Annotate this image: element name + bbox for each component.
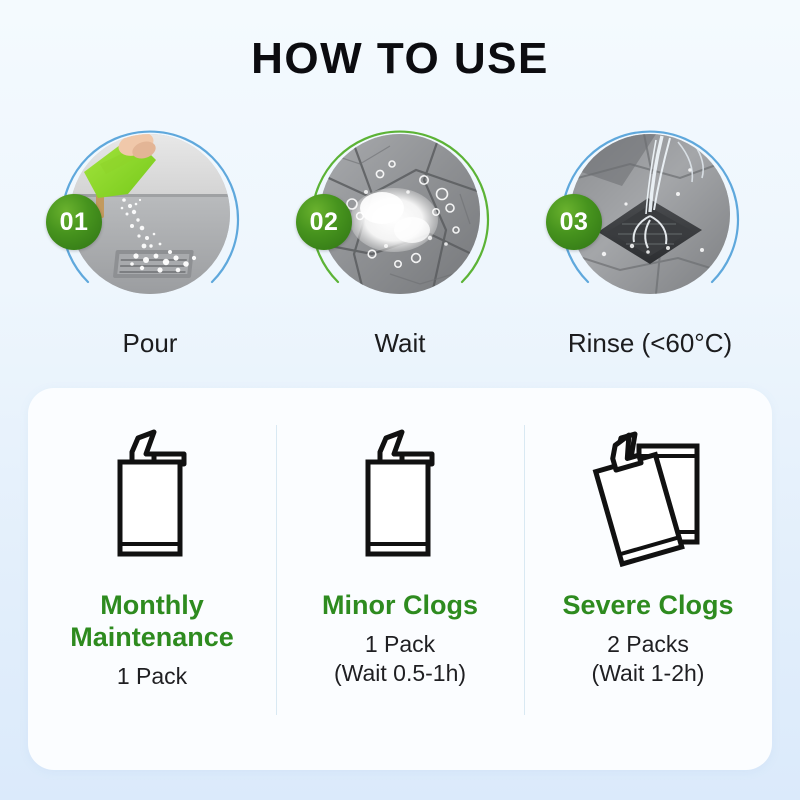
page-title: HOW TO USE xyxy=(0,34,800,84)
usage-column-severe-clogs: Severe Clogs 2 Packs (Wait 1-2h) xyxy=(524,388,772,770)
step-03-badge: 03 xyxy=(546,194,602,250)
single-pouch-icon xyxy=(92,424,212,574)
step-03: 03 Rinse (<60°C) xyxy=(544,116,756,359)
step-02: 02 Wait xyxy=(294,116,506,359)
step-03-media: 03 xyxy=(552,116,748,312)
usage-card: Monthly Maintenance 1 Pack Minor Clogs 1… xyxy=(28,388,772,770)
usage-detail-minor-clogs: 1 Pack (Wait 0.5-1h) xyxy=(334,630,466,689)
step-01-label: Pour xyxy=(123,328,178,359)
step-02-label: Wait xyxy=(374,328,425,359)
step-03-label: Rinse (<60°C) xyxy=(568,328,732,359)
single-pouch-icon xyxy=(340,424,460,574)
step-02-media: 02 xyxy=(302,116,498,312)
step-01-badge: 01 xyxy=(46,194,102,250)
steps-row: 01 Pour xyxy=(0,116,800,359)
usage-title-monthly-maintenance: Monthly Maintenance xyxy=(70,590,234,654)
usage-column-monthly-maintenance: Monthly Maintenance 1 Pack xyxy=(28,388,276,770)
usage-title-minor-clogs: Minor Clogs xyxy=(322,590,478,622)
double-pouch-icon xyxy=(573,424,723,574)
step-01-media: 01 xyxy=(52,116,248,312)
usage-detail-severe-clogs: 2 Packs (Wait 1-2h) xyxy=(592,630,705,689)
usage-detail-monthly-maintenance: 1 Pack xyxy=(117,662,187,691)
usage-title-severe-clogs: Severe Clogs xyxy=(562,590,733,622)
usage-column-minor-clogs: Minor Clogs 1 Pack (Wait 0.5-1h) xyxy=(276,388,524,770)
step-02-badge: 02 xyxy=(296,194,352,250)
step-01: 01 Pour xyxy=(44,116,256,359)
